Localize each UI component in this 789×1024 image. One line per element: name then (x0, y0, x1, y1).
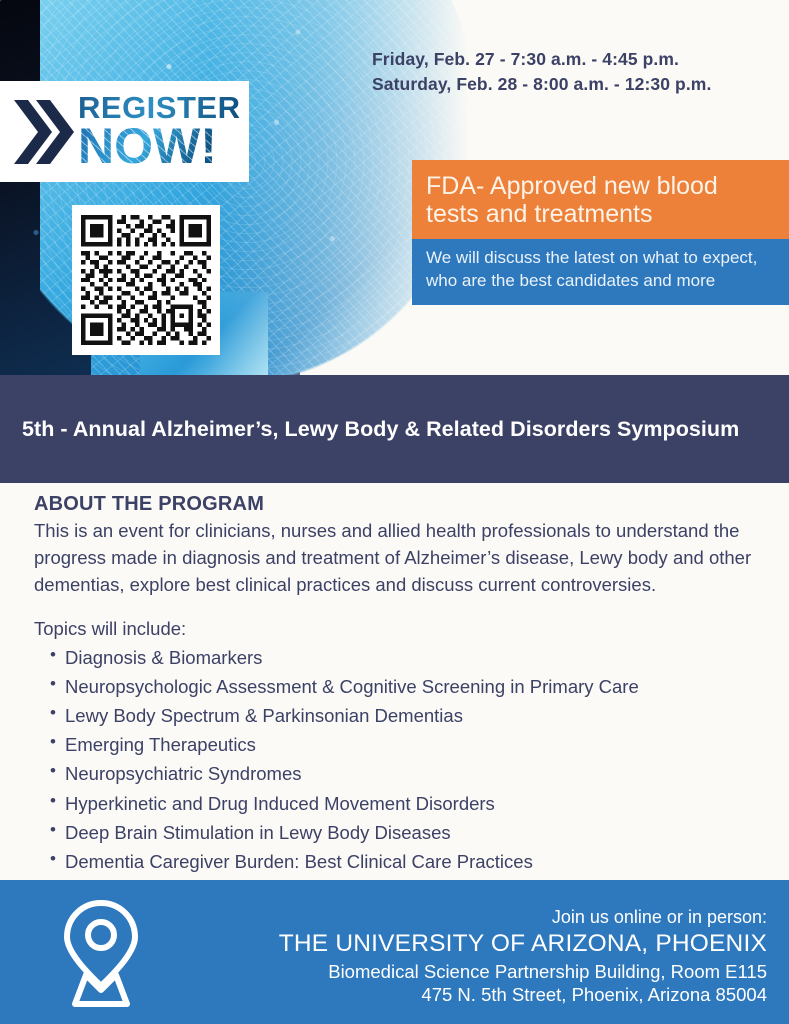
join-line: Join us online or in person: (279, 906, 767, 929)
about-section: ABOUT THE PROGRAM This is an event for c… (0, 483, 789, 876)
event-date-line: Friday, Feb. 27 - 7:30 a.m. - 4:45 p.m. (372, 47, 711, 72)
topics-list: Diagnosis & Biomarkers Neuropsychologic … (34, 643, 755, 877)
venue-footer: Join us online or in person: THE UNIVERS… (0, 880, 789, 1024)
event-dates: Friday, Feb. 27 - 7:30 a.m. - 4:45 p.m. … (372, 47, 711, 97)
register-now-badge[interactable]: REGISTER NOW! (0, 81, 249, 182)
list-item: Diagnosis & Biomarkers (50, 643, 755, 672)
street-address: 475 N. 5th Street, Phoenix, Arizona 8500… (279, 983, 767, 1006)
topics-label: Topics will include: (34, 618, 755, 640)
event-flyer: REGISTER NOW! (0, 0, 789, 1024)
list-item: Neuropsychologic Assessment & Cognitive … (50, 672, 755, 701)
page-title: 5th - Annual Alzheimer’s, Lewy Body & Re… (22, 417, 739, 442)
callout-body: We will discuss the latest on what to ex… (412, 239, 789, 306)
list-item: Emerging Therapeutics (50, 730, 755, 759)
double-chevron-icon (12, 96, 74, 168)
about-heading: ABOUT THE PROGRAM (34, 493, 755, 516)
list-item: Dementia Caregiver Burden: Best Clinical… (50, 847, 755, 876)
list-item: Neuropsychiatric Syndromes (50, 759, 755, 788)
building-name: Biomedical Science Partnership Building,… (279, 960, 767, 983)
organization-name: THE UNIVERSITY OF ARIZONA, PHOENIX (279, 929, 767, 960)
location-pin-icon (53, 896, 149, 1008)
venue-details: Join us online or in person: THE UNIVERS… (279, 906, 767, 1006)
callout-heading: FDA- Approved new blood tests and treatm… (412, 160, 789, 239)
register-now-text: REGISTER NOW! (78, 92, 240, 171)
title-band: 5th - Annual Alzheimer’s, Lewy Body & Re… (0, 375, 789, 483)
featured-topic-callout: FDA- Approved new blood tests and treatm… (412, 160, 789, 305)
about-paragraph: This is an event for clinicians, nurses … (34, 517, 755, 599)
now-word: NOW! (78, 121, 240, 171)
list-item: Deep Brain Stimulation in Lewy Body Dise… (50, 818, 755, 847)
list-item: Lewy Body Spectrum & Parkinsonian Dement… (50, 701, 755, 730)
list-item: Hyperkinetic and Drug Induced Movement D… (50, 789, 755, 818)
event-date-line: Saturday, Feb. 28 - 8:00 a.m. - 12:30 p.… (372, 72, 711, 97)
qr-code[interactable] (72, 205, 220, 355)
